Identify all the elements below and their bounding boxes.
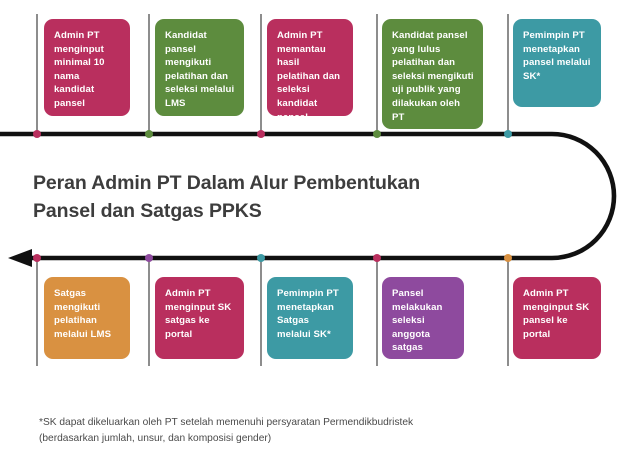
node-dot-bottom-2 bbox=[145, 254, 153, 262]
flow-node-step-8[interactable]: Pemimpin PT menetapkan Satgas melalui SK… bbox=[267, 277, 353, 359]
stem-bottom-1 bbox=[36, 258, 38, 366]
node-dot-bottom-4 bbox=[373, 254, 381, 262]
stem-top-3 bbox=[260, 14, 262, 134]
stem-bottom-2 bbox=[148, 258, 150, 366]
stem-bottom-3 bbox=[260, 258, 262, 366]
node-dot-top-2 bbox=[145, 130, 153, 138]
stem-bottom-5 bbox=[507, 258, 509, 366]
stem-bottom-4 bbox=[376, 258, 378, 366]
node-dot-top-1 bbox=[33, 130, 41, 138]
stem-top-2 bbox=[148, 14, 150, 134]
flow-node-step-5[interactable]: Pemimpin PT menetapkan pansel melalui SK… bbox=[513, 19, 601, 107]
node-dot-top-4 bbox=[373, 130, 381, 138]
arrowhead-icon bbox=[8, 249, 32, 267]
node-dot-bottom-3 bbox=[257, 254, 265, 262]
page-title-line-1: Peran Admin PT Dalam Alur Pembentukan bbox=[33, 170, 503, 198]
flow-node-step-6[interactable]: Admin PT menginput SK pansel ke portal bbox=[513, 277, 601, 359]
stem-top-5 bbox=[507, 14, 509, 134]
flow-node-step-10[interactable]: Satgas mengikuti pelatihan melalui LMS bbox=[44, 277, 130, 359]
flow-node-step-4[interactable]: Kandidat pansel yang lulus pelatihan dan… bbox=[382, 19, 483, 129]
node-dot-bottom-1 bbox=[33, 254, 41, 262]
flow-node-step-9[interactable]: Admin PT menginput SK satgas ke portal bbox=[155, 277, 244, 359]
footnote-line-1: *SK dapat dikeluarkan oleh PT setelah me… bbox=[39, 415, 579, 431]
stem-top-1 bbox=[36, 14, 38, 134]
flow-node-step-3[interactable]: Admin PT memantau hasil pelatihan dan se… bbox=[267, 19, 353, 116]
infographic-canvas: Admin PT menginput minimal 10 nama kandi… bbox=[0, 0, 624, 457]
page-title: Peran Admin PT Dalam Alur Pembentukan Pa… bbox=[33, 170, 503, 225]
footnote: *SK dapat dikeluarkan oleh PT setelah me… bbox=[39, 415, 579, 447]
page-title-line-2: Pansel dan Satgas PPKS bbox=[33, 198, 503, 226]
flow-node-step-1[interactable]: Admin PT menginput minimal 10 nama kandi… bbox=[44, 19, 130, 116]
footnote-line-2: (berdasarkan jumlah, unsur, dan komposis… bbox=[39, 431, 579, 447]
node-dot-bottom-5 bbox=[504, 254, 512, 262]
flow-node-step-7[interactable]: Pansel melakukan seleksi anggota satgas bbox=[382, 277, 464, 359]
node-dot-top-5 bbox=[504, 130, 512, 138]
node-dot-top-3 bbox=[257, 130, 265, 138]
flow-node-step-2[interactable]: Kandidat pansel mengikuti pelatihan dan … bbox=[155, 19, 244, 116]
stem-top-4 bbox=[376, 14, 378, 134]
